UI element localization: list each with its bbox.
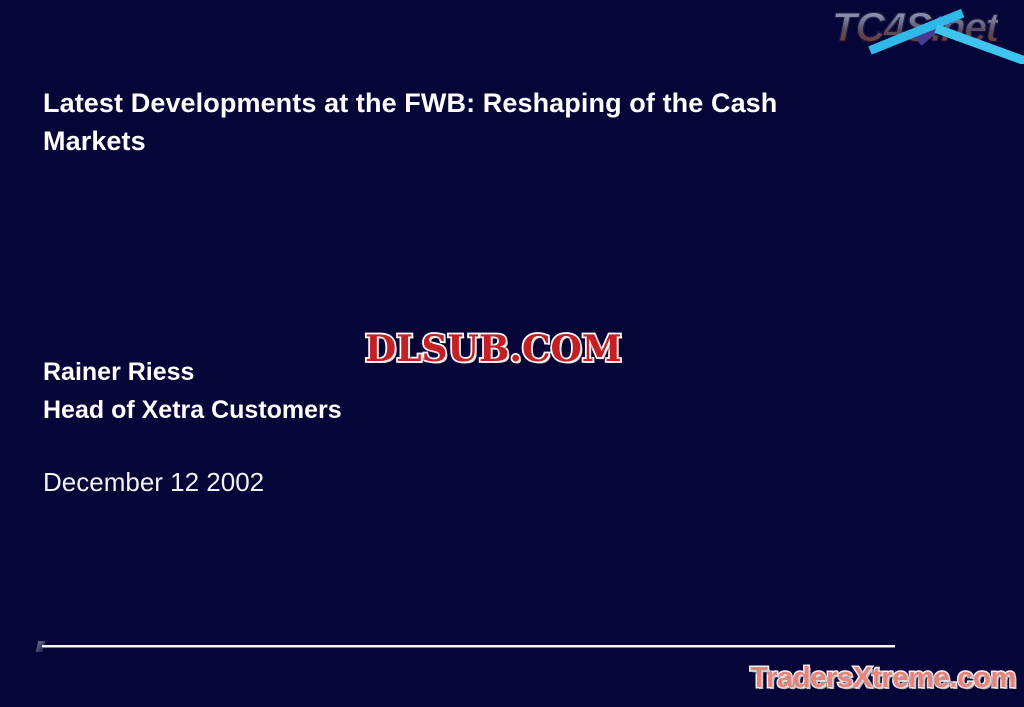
ribbon-accent-band xyxy=(914,15,947,45)
title-block: Latest Developments at the FWB: Reshapin… xyxy=(43,84,923,160)
author-block: Rainer Riess Head of Xetra Customers xyxy=(43,353,643,429)
divider-shadow-line xyxy=(42,647,895,648)
tc4s-ribbon-icon xyxy=(818,2,1024,64)
title-slide: Latest Developments at the FWB: Reshapin… xyxy=(0,0,1024,707)
tradersxtreme-watermark: TradersXtreme.com xyxy=(750,661,1016,695)
ribbon-band-left xyxy=(868,9,964,55)
author-role: Head of Xetra Customers xyxy=(43,391,643,429)
author-name: Rainer Riess xyxy=(43,353,643,391)
tc4s-watermark-label: TC4S.net xyxy=(832,2,998,52)
ribbon-band-right xyxy=(934,24,1024,64)
page-title: Latest Developments at the FWB: Reshapin… xyxy=(43,84,923,160)
slide-date: December 12 2002 xyxy=(43,466,264,498)
footer-divider xyxy=(42,645,895,648)
tradersxtreme-watermark-label: TradersXtreme.com xyxy=(750,661,1016,695)
tc4s-watermark: TC4S.net xyxy=(818,2,1024,64)
